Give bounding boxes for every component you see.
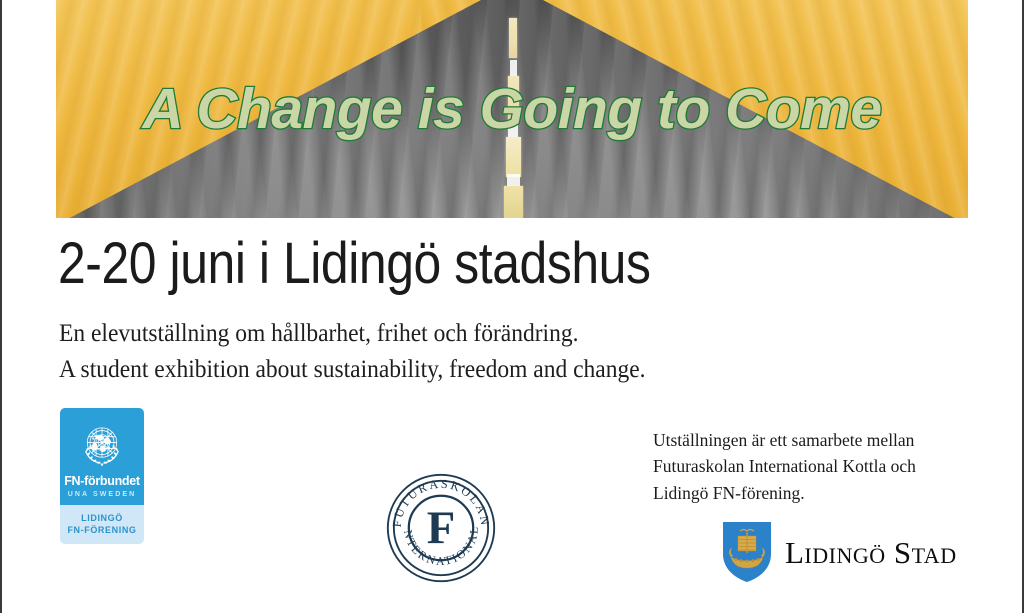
road-centerline-dash: [509, 18, 517, 58]
futuraskolan-seal-icon: FUTURASKOLAN INTERNATIONAL F: [385, 472, 494, 581]
subtitle-english: A student exhibition about sustainabilit…: [59, 357, 646, 382]
un-association-logo: FN-förbundet UNA SWEDEN LIDINGÖ FN-FÖREN…: [60, 408, 144, 544]
un-association-logo-panel: FN-förbundet UNA SWEDEN: [60, 408, 144, 505]
un-association-subname: UNA SWEDEN: [64, 491, 140, 498]
un-emblem-icon: [74, 421, 130, 470]
banner-title: A Change is Going to Come: [56, 81, 968, 138]
lidingo-viking-ship-shield-icon: [722, 521, 772, 583]
subtitle-swedish: En elevutställning om hållbarhet, frihet…: [59, 321, 578, 346]
page-title: 2-20 juni i Lidingö stadshus: [58, 234, 650, 295]
lidingo-stad-logo: Lidingö Stad: [722, 521, 957, 583]
collaboration-note-line-1: Utställningen är ett samarbete mellan: [653, 427, 916, 453]
collaboration-note-line-3: Lidingö FN-förening.: [653, 480, 916, 506]
collaboration-note-line-2: Futuraskolan International Kottla och: [653, 453, 916, 479]
banner-image: A Change is Going to Come: [56, 0, 968, 218]
road-centerline-dash: [504, 186, 523, 218]
un-association-local-line-1: LIDINGÖ: [63, 512, 141, 524]
futuraskolan-logo: FUTURASKOLAN INTERNATIONAL F: [385, 472, 497, 584]
un-association-local-line-2: FN-FÖRENING: [63, 524, 141, 536]
un-association-name: FN-förbundet: [64, 475, 140, 488]
un-association-local-panel: LIDINGÖ FN-FÖRENING: [60, 505, 144, 544]
lidingo-stad-wordmark: Lidingö Stad: [785, 537, 957, 568]
collaboration-note: Utställningen är ett samarbete mellan Fu…: [653, 427, 916, 506]
road-centerline-dash: [506, 137, 521, 177]
poster-page: A Change is Going to Come 2-20 juni i Li…: [2, 0, 1022, 613]
futuraskolan-monogram: F: [427, 502, 456, 554]
